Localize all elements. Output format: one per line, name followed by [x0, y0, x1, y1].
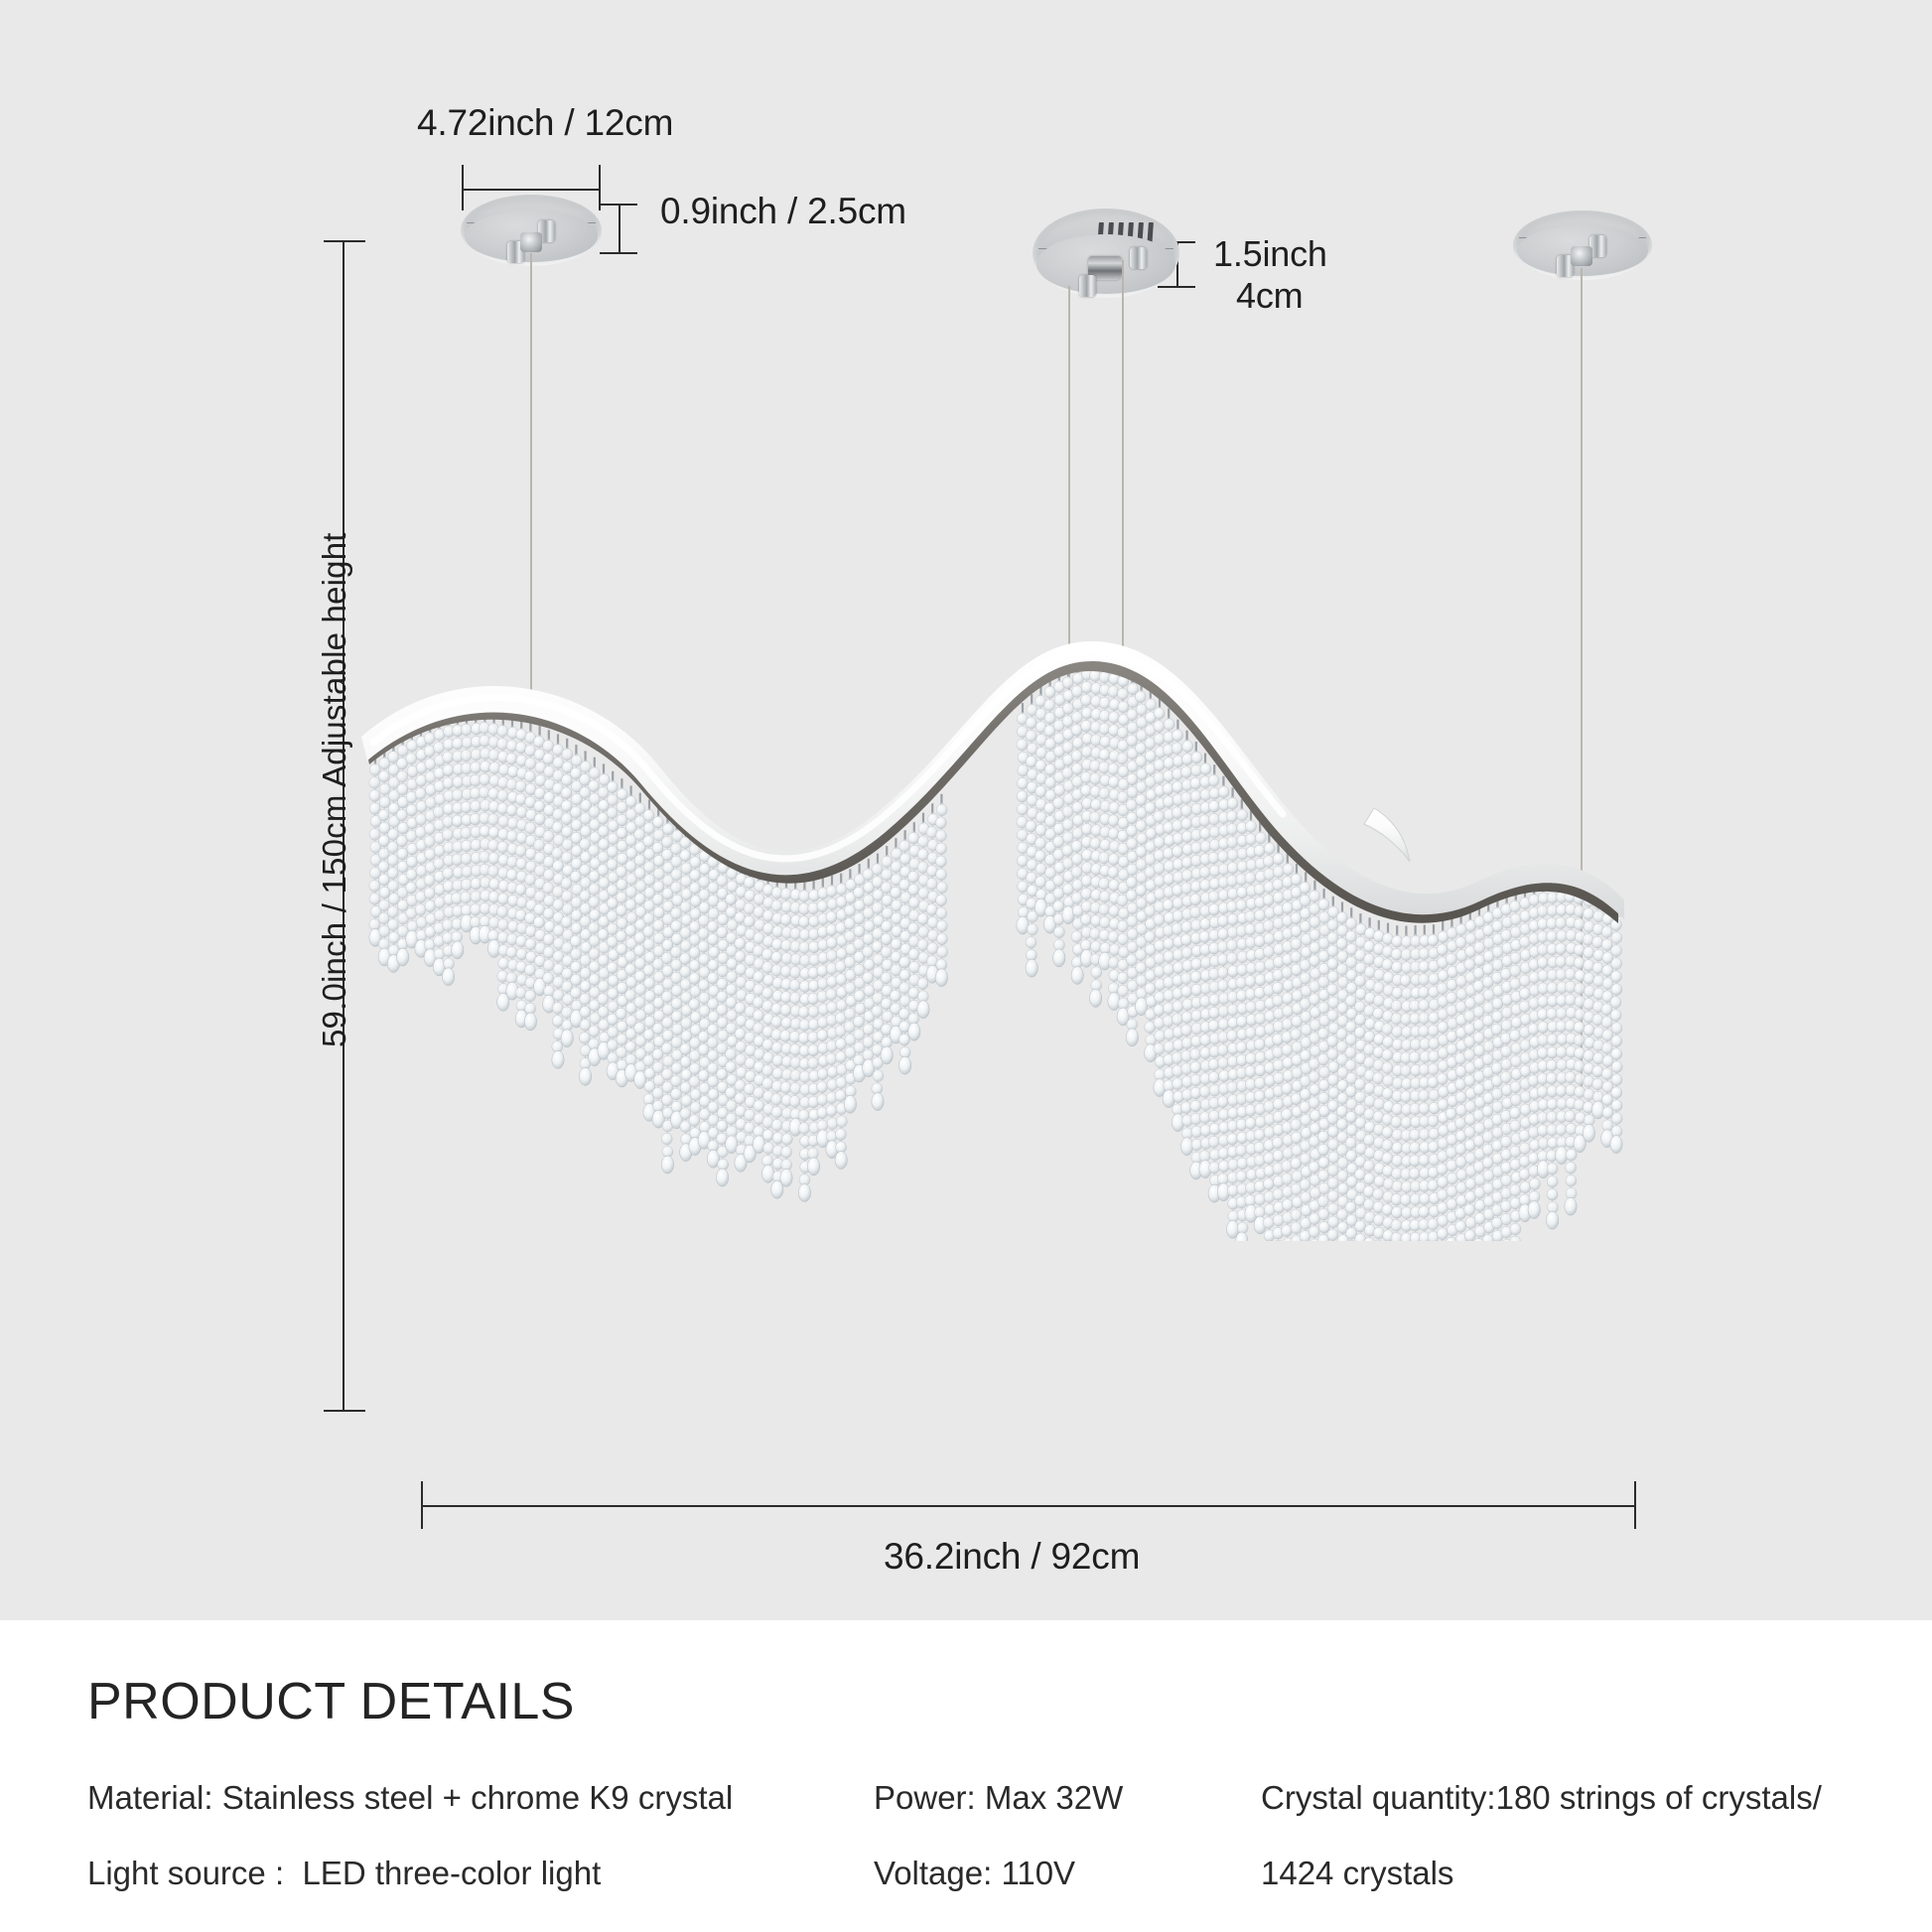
canopy-small-height-tick-bottom — [600, 252, 637, 254]
crystal-strand — [624, 786, 636, 1082]
canopy-diameter-dimension-line — [462, 189, 601, 191]
crystal-strand — [853, 864, 866, 1082]
crystal-strand — [406, 730, 419, 948]
crystal-strand — [1336, 902, 1349, 1366]
product-spec-sheet: 4.72inch / 12cm 0.9inch / 2.5cm 1.5inch … — [0, 0, 1932, 1932]
chandelier-rail-tail — [1364, 808, 1410, 862]
canopy-left-center-hub — [520, 232, 542, 252]
spec-light-source: Light source : LED three-color light — [87, 1855, 601, 1892]
canopy-small-height-tick-top — [600, 204, 637, 206]
ceiling-canopy-right — [1513, 210, 1652, 280]
ceiling-canopy-center — [1033, 208, 1179, 298]
crystal-strand — [1500, 894, 1513, 1267]
crystal-strands — [369, 658, 1622, 1389]
crystal-strand — [1419, 925, 1432, 1350]
crystal-strand — [1163, 709, 1174, 1108]
crystal-strand — [1583, 885, 1595, 1142]
canopy-center-screw-b — [1079, 275, 1096, 297]
adjustable-height-tick-top — [324, 240, 365, 242]
fixture-width-tick-left — [421, 1481, 423, 1529]
spec-crystal-quantity-line1: Crystal quantity:180 strings of crystals… — [1261, 1779, 1822, 1817]
crystal-strand — [1428, 924, 1441, 1323]
adjustable-height-tick-bottom — [324, 1410, 365, 1412]
dimension-diagram-panel: 4.72inch / 12cm 0.9inch / 2.5cm 1.5inch … — [0, 0, 1932, 1620]
canopy-small-height-dimension-line — [619, 204, 621, 253]
canopy-large-height-label-line2: 4cm — [1236, 276, 1303, 316]
canopy-small-height-label: 0.9inch / 2.5cm — [660, 191, 906, 232]
canopy-center-screw-a — [1130, 247, 1147, 269]
spec-material: Material: Stainless steel + chrome K9 cr… — [87, 1779, 733, 1817]
crystal-strand — [1565, 881, 1578, 1215]
spec-voltage: Voltage: 110V — [874, 1855, 1075, 1892]
product-details-panel: PRODUCT DETAILS Material: Stainless stee… — [0, 1620, 1932, 1932]
fixture-width-dimension-line — [421, 1505, 1636, 1507]
fixture-width-tick-right — [1634, 1481, 1636, 1529]
crystal-strand — [1391, 925, 1404, 1389]
crystal-strand — [935, 794, 947, 987]
canopy-diameter-label: 4.72inch / 12cm — [417, 102, 673, 144]
canopy-large-height-tick-bottom — [1158, 286, 1195, 288]
canopy-right-center-hub — [1571, 246, 1592, 266]
spec-power: Power: Max 32W — [874, 1779, 1123, 1817]
fixture-width-label: 36.2inch / 92cm — [884, 1536, 1140, 1578]
canopy-large-height-label-line1: 1.5inch — [1213, 234, 1327, 274]
crystal-strand — [780, 878, 793, 1186]
crystal-strand — [1026, 694, 1038, 977]
canopy-diameter-tick-left — [462, 165, 464, 210]
crystal-strand — [807, 880, 819, 1175]
crystal-strand — [1591, 888, 1604, 1119]
product-details-heading: PRODUCT DETAILS — [87, 1672, 575, 1731]
chandelier-fixture — [328, 625, 1648, 1241]
spec-crystal-quantity-line2: 1424 crystals — [1261, 1855, 1453, 1892]
crystal-strand — [1226, 787, 1238, 1238]
